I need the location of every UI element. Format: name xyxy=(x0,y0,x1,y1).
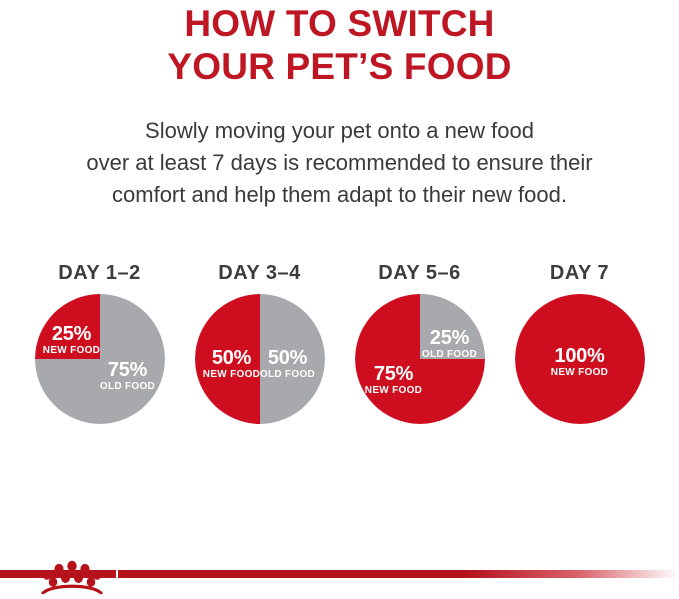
crown-icon-svg xyxy=(38,560,106,594)
pie-svg-2 xyxy=(195,294,325,424)
pie-graphic-4 xyxy=(515,294,645,424)
day-label-2: DAY 3–4 xyxy=(218,262,300,285)
pie-graphic-1 xyxy=(35,294,165,424)
pie-chart-day-7: DAY 7 100% NEW FOOD xyxy=(500,262,660,424)
intro-line-1: Slowly moving your pet onto a new food xyxy=(0,115,679,147)
pie-wrap-3: 25% OLD FOOD 75% NEW FOOD xyxy=(355,294,485,424)
pie-graphic-3 xyxy=(355,294,485,424)
pie-wrap-1: 25% NEW FOOD 75% OLD FOOD xyxy=(35,294,165,424)
pie-chart-day-1-2: DAY 1–2 25% NEW FOOD 75% OLD FOOD xyxy=(20,262,180,424)
intro-line-2: over at least 7 days is recommended to e… xyxy=(0,147,679,179)
page-title-line-2: YOUR PET’S FOOD xyxy=(0,45,679,88)
crown-icon xyxy=(38,560,106,594)
pie-svg-1 xyxy=(35,294,165,424)
intro-paragraph: Slowly moving your pet onto a new food o… xyxy=(0,115,679,211)
footer-rule-right xyxy=(118,570,679,578)
day-label-4: DAY 7 xyxy=(550,262,609,285)
pie-wrap-2: 50% NEW FOOD 50% OLD FOOD xyxy=(195,294,325,424)
pie-chart-day-5-6: DAY 5–6 25% OLD FOOD 75% NEW FOOD xyxy=(340,262,500,424)
pie-chart-day-3-4: DAY 3–4 50% NEW FOOD 50% OLD FOOD xyxy=(180,262,340,424)
day-label-3: DAY 5–6 xyxy=(378,262,460,285)
pie-graphic-2 xyxy=(195,294,325,424)
pie-svg-3 xyxy=(355,294,485,424)
intro-line-3: comfort and help them adapt to their new… xyxy=(0,179,679,211)
pie-svg-4 xyxy=(515,294,645,424)
pie-wrap-4: 100% NEW FOOD xyxy=(515,294,645,424)
footer-brand-bar xyxy=(0,560,679,594)
infographic-page: HOW TO SWITCH YOUR PET’S FOOD Slowly mov… xyxy=(0,0,679,594)
pie-chart-row: DAY 1–2 25% NEW FOOD 75% OLD FOOD xyxy=(0,262,679,452)
page-title-line-1: HOW TO SWITCH xyxy=(0,2,679,45)
page-title: HOW TO SWITCH YOUR PET’S FOOD xyxy=(0,2,679,88)
day-label-1: DAY 1–2 xyxy=(58,262,140,285)
